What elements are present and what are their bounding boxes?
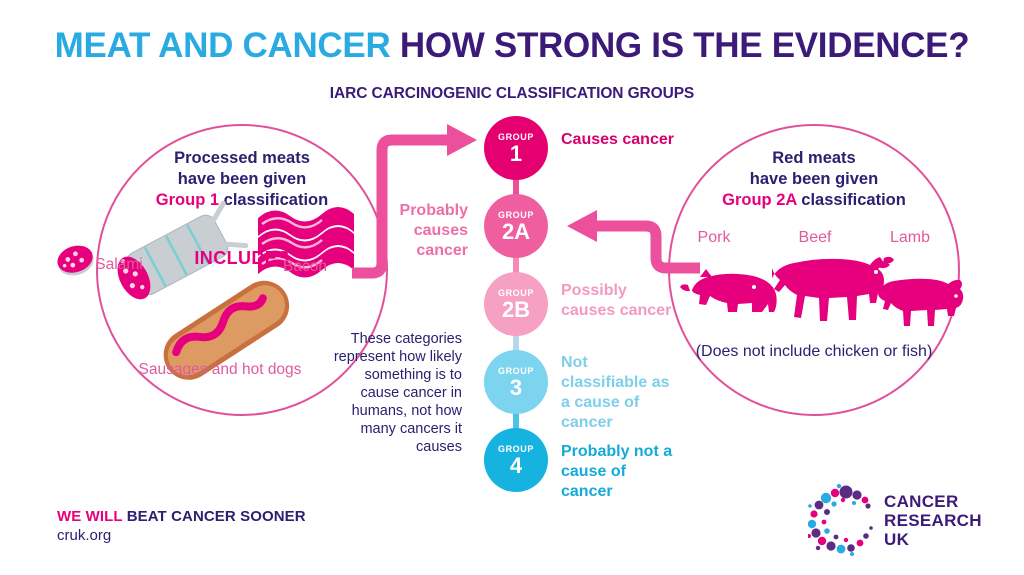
salami-label: Salami — [64, 256, 174, 274]
group-1-circle[interactable]: GROUP 1 — [484, 116, 548, 180]
red-meats-heading: Red meats have been given Group 2A class… — [670, 148, 958, 211]
title-part-one: MEAT AND CANCER — [55, 26, 391, 65]
cruk-logo-icon — [808, 484, 884, 556]
processed-meats-group-label: Group 1 — [156, 191, 219, 209]
cruk-url[interactable]: cruk.org — [57, 527, 111, 544]
explanation-text: These categories represent how likely so… — [330, 330, 462, 456]
group-2a-number: 2A — [502, 221, 530, 243]
group-2b-circle[interactable]: GROUP 2B — [484, 272, 548, 336]
group-1-word: GROUP — [498, 132, 534, 142]
group-2b-word: GROUP — [498, 288, 534, 298]
page-subtitle: IARC CARCINOGENIC CLASSIFICATION GROUPS — [0, 85, 1024, 103]
group-1-number: 1 — [510, 143, 522, 165]
group-2a-description: Probably causes cancer — [362, 201, 468, 261]
cruk-logo-text: CANCER RESEARCH UK — [884, 492, 982, 549]
group-2b-description: Possibly causes cancer — [561, 281, 676, 321]
group-4-description: Probably not a cause of cancer — [561, 442, 679, 502]
strapline-navy: BEAT CANCER SOONER — [127, 508, 306, 525]
red-meats-line3: Group 2A classification — [670, 190, 958, 211]
group-3-number: 3 — [510, 377, 522, 399]
red-meats-group-label: Group 2A — [722, 191, 797, 209]
red-meats-line1: Red meats — [670, 148, 958, 169]
red-meats-classification-word: classification — [797, 191, 906, 209]
red-meats-line2: have been given — [670, 169, 958, 190]
strapline-pink: WE WILL — [57, 508, 127, 525]
processed-meats-line3: Group 1 classification — [98, 190, 386, 211]
processed-meats-line2: have been given — [98, 169, 386, 190]
logo-line-cancer: CANCER — [884, 492, 982, 511]
processed-meats-classification-word: classification — [219, 191, 328, 209]
group-1-description: Causes cancer — [561, 130, 681, 150]
pork-label: Pork — [674, 229, 754, 247]
logo-line-uk: UK — [884, 530, 982, 549]
group-4-number: 4 — [510, 455, 522, 477]
title-part-two: HOW STRONG IS THE EVIDENCE? — [400, 26, 969, 65]
logo-line-research: RESEARCH — [884, 511, 982, 530]
sausages-label: Sausages and hot dogs — [130, 360, 310, 379]
page-title: MEAT AND CANCER HOW STRONG IS THE EVIDEN… — [0, 26, 1024, 66]
group-3-word: GROUP — [498, 366, 534, 376]
group-2a-circle[interactable]: GROUP 2A — [484, 194, 548, 258]
exclusion-note: (Does not include chicken or fish) — [668, 341, 960, 362]
group-2a-word: GROUP — [498, 210, 534, 220]
lamb-label: Lamb — [870, 229, 950, 247]
group-3-description: Not classifiable as a cause of cancer — [561, 353, 671, 433]
processed-meats-heading: Processed meats have been given Group 1 … — [98, 148, 386, 211]
bacon-label: Bacon — [250, 258, 360, 276]
group-2b-number: 2B — [502, 299, 530, 321]
beef-label: Beef — [775, 229, 855, 247]
group-4-circle[interactable]: GROUP 4 — [484, 428, 548, 492]
group-3-circle[interactable]: GROUP 3 — [484, 350, 548, 414]
strapline: WE WILL BEAT CANCER SOONER — [57, 508, 306, 525]
processed-meats-line1: Processed meats — [98, 148, 386, 169]
group-4-word: GROUP — [498, 444, 534, 454]
infographic-canvas: MEAT AND CANCER HOW STRONG IS THE EVIDEN… — [0, 0, 1024, 575]
red-meats-circle: Red meats have been given Group 2A class… — [668, 124, 960, 416]
